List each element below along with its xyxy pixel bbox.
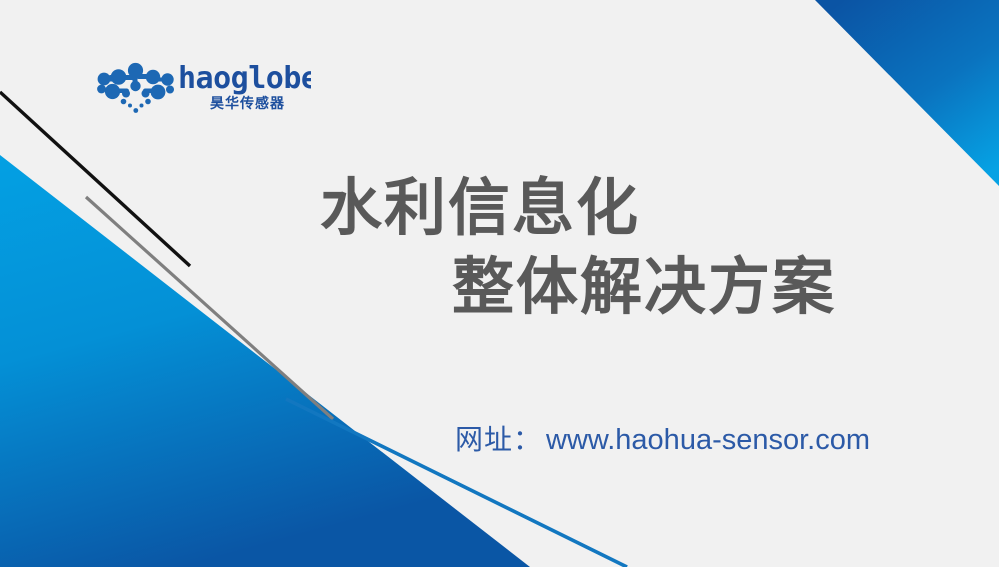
molecule-cluster-icon bbox=[96, 62, 176, 116]
title-line-1: 水利信息化 bbox=[300, 168, 900, 247]
top-right-blue-wedge bbox=[815, 0, 999, 186]
logo-wordmark: haoglobe bbox=[178, 58, 311, 98]
company-logo: haoglobe 昊华传感器 bbox=[96, 58, 311, 120]
title-line-2: 整体解决方案 bbox=[300, 247, 900, 326]
svg-text:haoglobe: haoglobe bbox=[178, 61, 311, 96]
logo-subtitle: 昊华传感器 bbox=[210, 96, 310, 110]
website-line: 网址： www.haohua-sensor.com bbox=[455, 418, 870, 458]
slide-canvas: haoglobe 昊华传感器 水利信息化 整体解决方案 网址： www.haoh… bbox=[0, 0, 999, 567]
website-label: 网址： bbox=[455, 418, 542, 458]
website-url[interactable]: www.haohua-sensor.com bbox=[546, 424, 870, 457]
page-title: 水利信息化 整体解决方案 bbox=[300, 168, 900, 327]
